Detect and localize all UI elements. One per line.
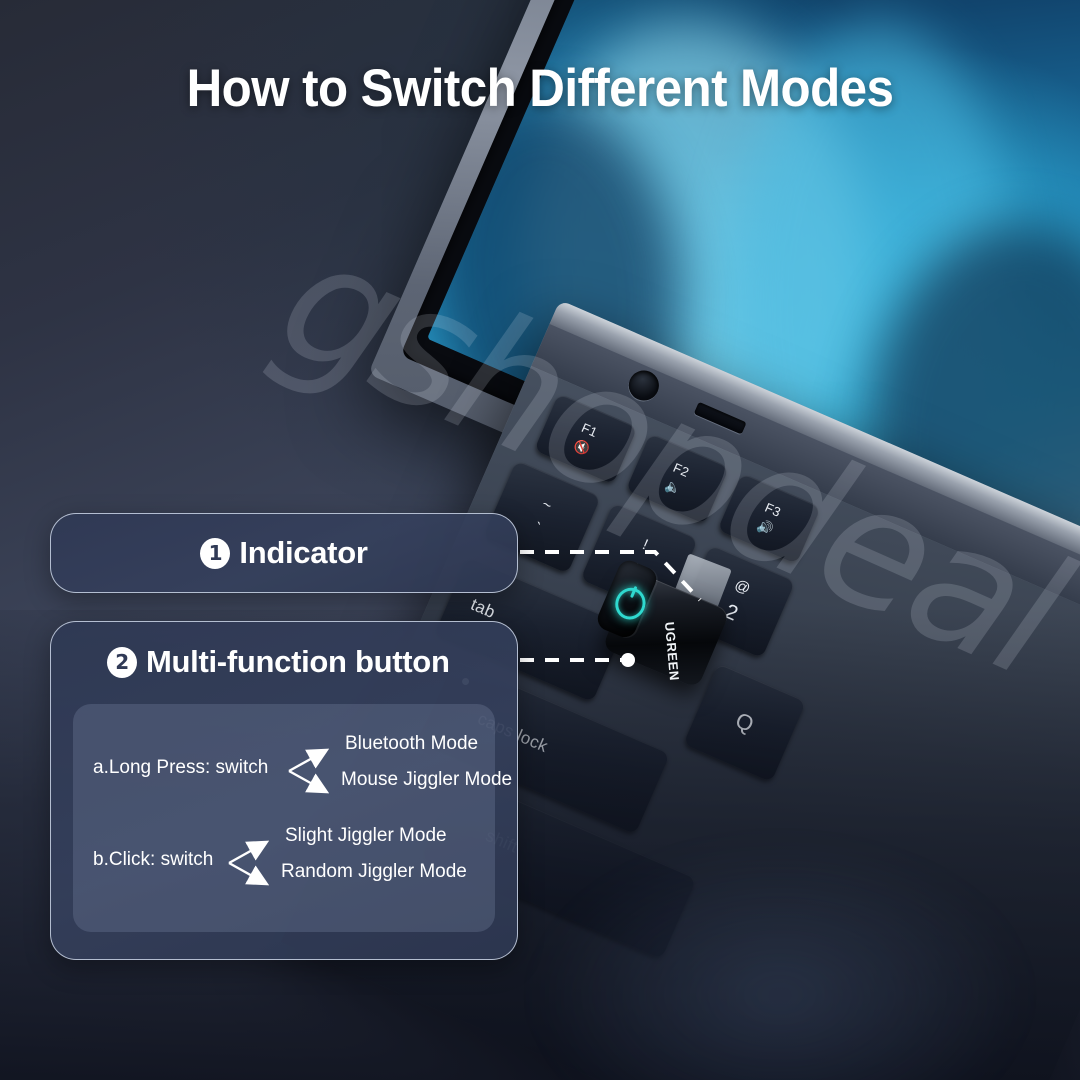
option-slight-jiggler-mode: Slight Jiggler Mode (285, 825, 447, 847)
action-row-long-press: a.Long Press: switch Bluetooth Mode Mous… (73, 730, 495, 808)
action-row-click: b.Click: switch Slight Jiggler Mode Rand… (73, 822, 495, 900)
action-label-click: b.Click: switch (93, 849, 213, 871)
option-mouse-jiggler-mode: Mouse Jiggler Mode (341, 769, 512, 791)
option-bluetooth-mode: Bluetooth Mode (345, 733, 478, 755)
branch-arrows (225, 832, 285, 894)
infographic-canvas: F1 🔇 F2 🔈 F3 🔊 ~ ` ! 1 (0, 0, 1080, 1080)
action-label-long-press: a.Long Press: switch (93, 757, 268, 779)
callout-button-label: Multi-function button (146, 644, 450, 680)
branch-arrows (285, 740, 345, 802)
badge-number-2: 2 (107, 647, 137, 678)
callout-multi-function-button[interactable]: 2 Multi-function button a.Long Press: sw… (50, 621, 518, 960)
badge-number-1: 1 (200, 538, 230, 569)
callout-indicator[interactable]: 1 Indicator (50, 513, 518, 593)
callout-indicator-title: 1 Indicator (200, 535, 367, 571)
callout-button-title: 2 Multi-function button (51, 622, 517, 680)
callout-indicator-label: Indicator (239, 535, 367, 571)
option-random-jiggler-mode: Random Jiggler Mode (281, 861, 467, 883)
actions-panel: a.Long Press: switch Bluetooth Mode Mous… (73, 704, 495, 932)
